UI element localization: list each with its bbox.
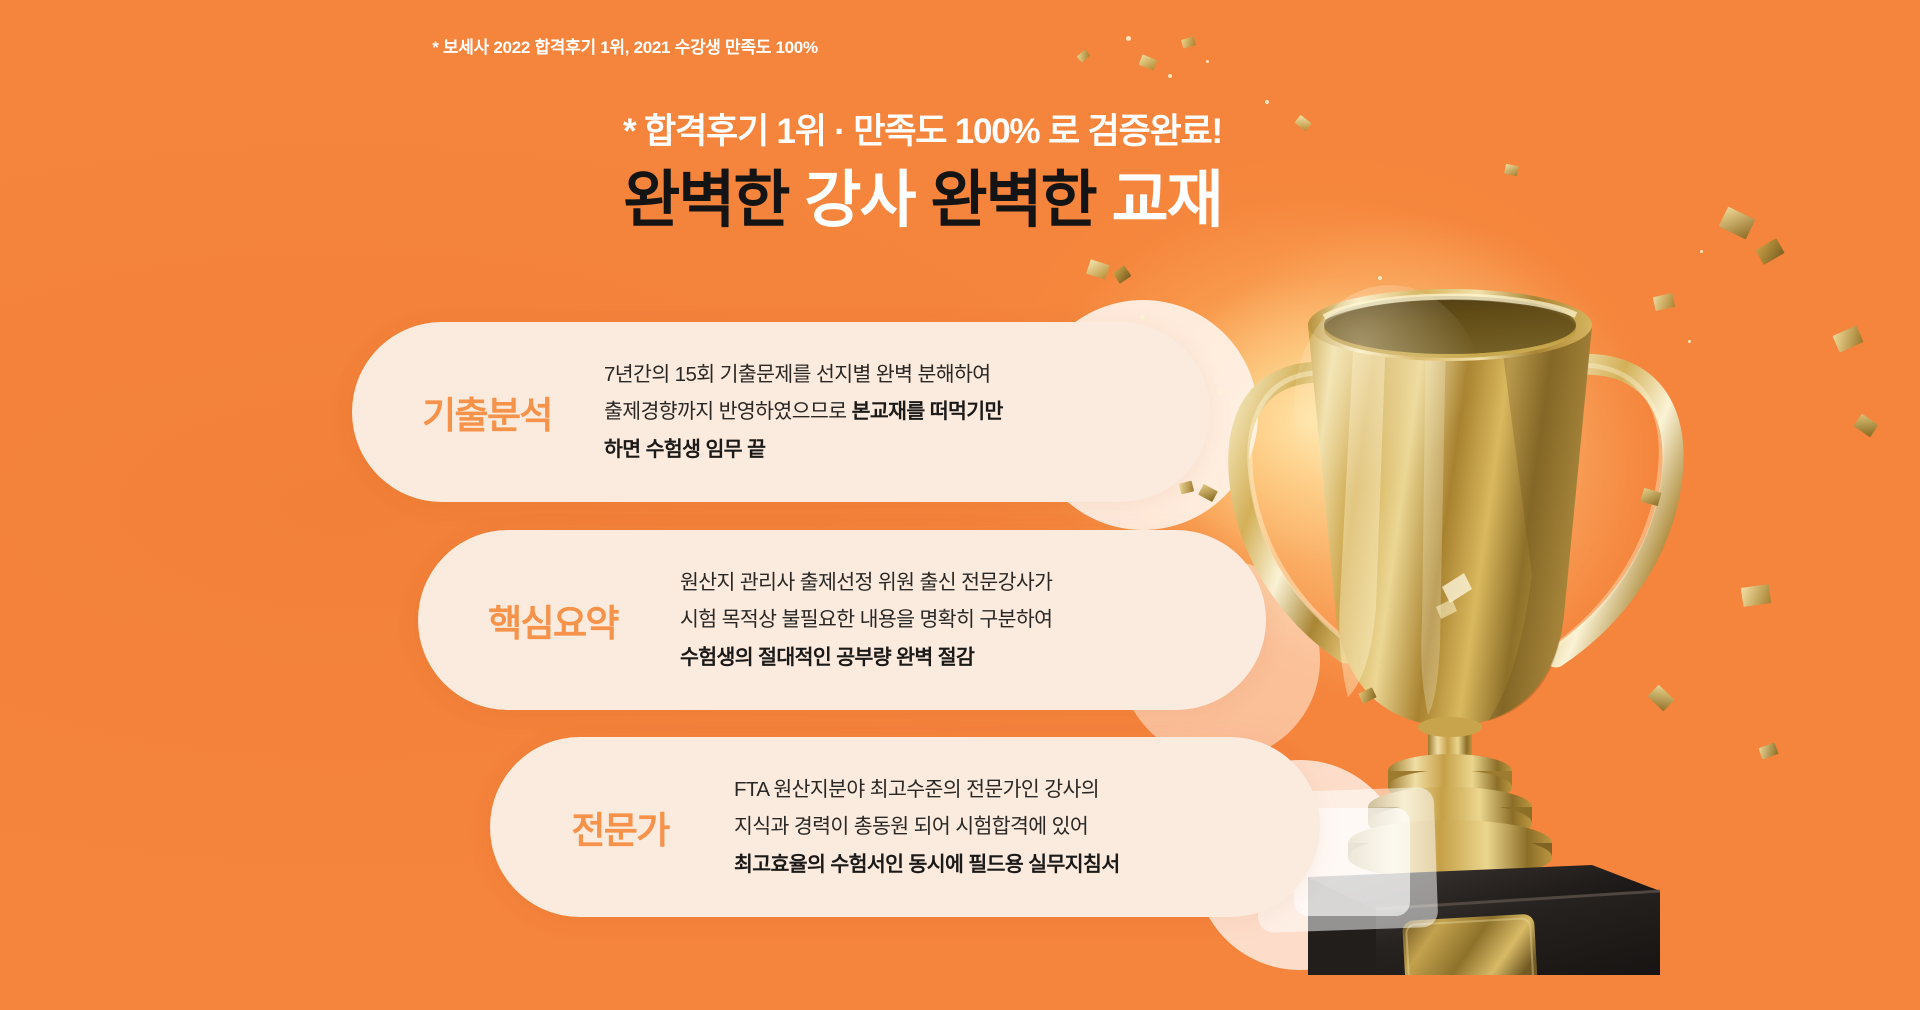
feature-card-body: FTA 원산지분야 최고수준의 전문가인 강사의지식과 경력이 총동원 되어 시… <box>734 771 1120 883</box>
feature-card[interactable]: 핵심요약 원산지 관리사 출제선정 위원 출신 전문강사가시험 목적상 불필요한… <box>418 530 1266 710</box>
feature-card-line: 하면 수험생 임무 끝 <box>604 431 1003 468</box>
feature-card-line: FTA 원산지분야 최고수준의 전문가인 강사의 <box>734 771 1120 808</box>
emphasis-text: 본교재를 떠먹기만 <box>852 400 1003 423</box>
headline-word: 교재 <box>1112 166 1222 235</box>
plain-text: 지식과 경력이 총동원 되어 시험합격에 있어 <box>734 815 1088 838</box>
feature-card[interactable]: 기출분석 7년간의 15회 기출문제를 선지별 완벽 분해하여출제경향까지 반영… <box>352 322 1210 502</box>
headline-word: 강사 <box>804 166 914 235</box>
emphasis-text: 하면 수험생 임무 끝 <box>604 438 765 461</box>
feature-card[interactable]: 전문가 FTA 원산지분야 최고수준의 전문가인 강사의지식과 경력이 총동원 … <box>490 737 1320 917</box>
headline-word: 완벽한 <box>623 166 788 235</box>
feature-card-tag: 핵심요약 <box>446 593 660 647</box>
feature-card-line: 최고효율의 수험서인 동시에 필드용 실무지침서 <box>734 846 1120 883</box>
subheadline: * 합격후기 1위 · 만족도 100% 로 검증완료! <box>0 103 1845 154</box>
feature-card-line: 출제경향까지 반영하였으므로 본교재를 떠먹기만 <box>604 393 1003 430</box>
feature-card-tag: 기출분석 <box>380 385 594 439</box>
feature-card-line: 시험 목적상 불필요한 내용을 명확히 구분하여 <box>680 601 1052 638</box>
plain-text: 시험 목적상 불필요한 내용을 명확히 구분하여 <box>680 608 1052 631</box>
feature-card-body: 7년간의 15회 기출문제를 선지별 완벽 분해하여출제경향까지 반영하였으므로… <box>604 356 1003 468</box>
plain-text: FTA 원산지분야 최고수준의 전문가인 강사의 <box>734 778 1099 801</box>
plain-text: 원산지 관리사 출제선정 위원 출신 전문강사가 <box>680 571 1052 594</box>
feature-card-line: 지식과 경력이 총동원 되어 시험합격에 있어 <box>734 808 1120 845</box>
page-title: 완벽한강사완벽한교재 <box>0 168 1845 233</box>
plain-text: 7년간의 15회 기출문제를 선지별 완벽 분해하여 <box>604 363 991 386</box>
emphasis-text: 최고효율의 수험서인 동시에 필드용 실무지침서 <box>734 853 1120 876</box>
disclaimer-text: * 보세사 2022 합격후기 1위, 2021 수강생 만족도 100% <box>0 33 1250 58</box>
feature-card-line: 7년간의 15회 기출문제를 선지별 완벽 분해하여 <box>604 356 1003 393</box>
headline-word: 완벽한 <box>931 166 1096 235</box>
promo-banner: * 보세사 2022 합격후기 1위, 2021 수강생 만족도 100% * … <box>0 0 1920 1010</box>
plain-text: 출제경향까지 반영하였으므로 <box>604 400 852 423</box>
feature-card-line: 수험생의 절대적인 공부량 완벽 절감 <box>680 639 1052 676</box>
emphasis-text: 수험생의 절대적인 공부량 완벽 절감 <box>680 646 974 669</box>
feature-card-body: 원산지 관리사 출제선정 위원 출신 전문강사가시험 목적상 불필요한 내용을 … <box>680 564 1052 676</box>
feature-card-tag: 전문가 <box>528 800 712 854</box>
feature-card-line: 원산지 관리사 출제선정 위원 출신 전문강사가 <box>680 564 1052 601</box>
